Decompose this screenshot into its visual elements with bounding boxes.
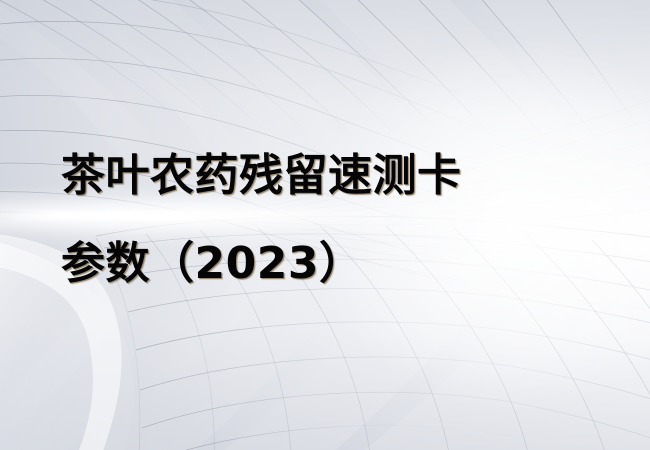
page-title: 茶叶农药残留速测卡 参数（2023） [61,132,581,308]
title-line-2: 参数（2023） [61,220,581,308]
title-line-1: 茶叶农药残留速测卡 [61,132,581,220]
title-slide: 茶叶农药残留速测卡 参数（2023） [0,0,650,450]
